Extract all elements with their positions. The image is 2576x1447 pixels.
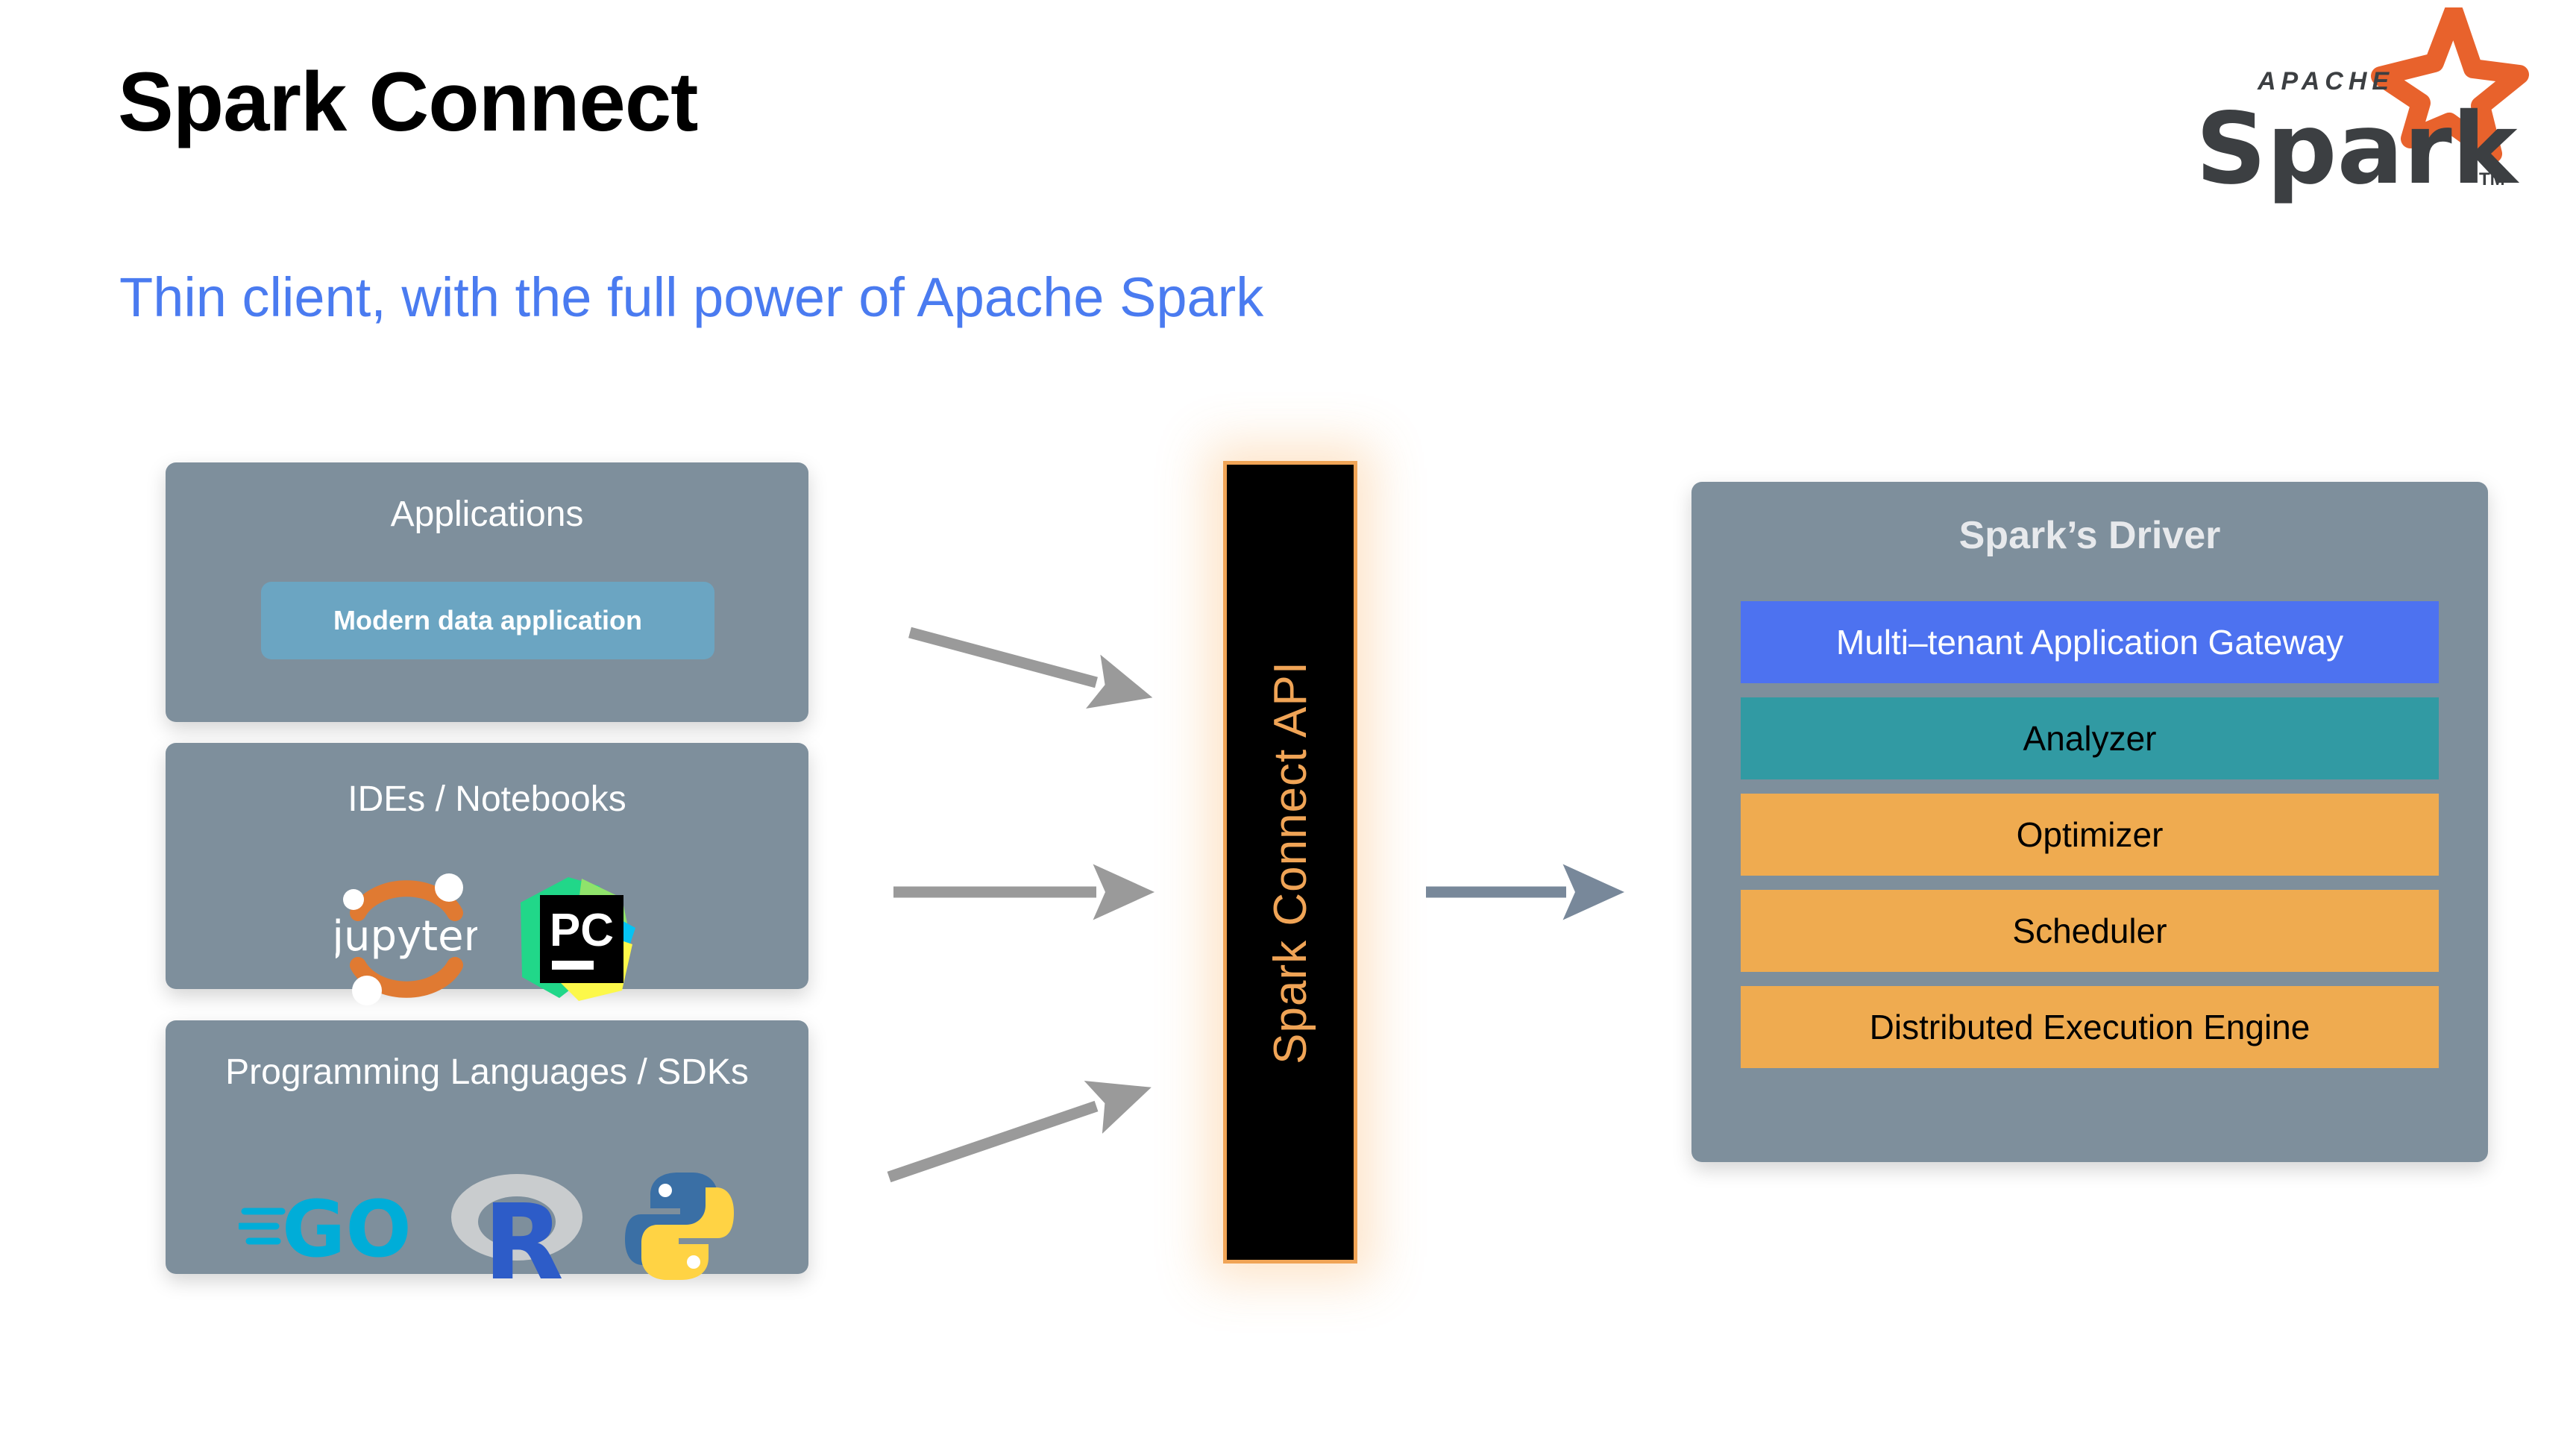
client-box-ides-title: IDEs / Notebooks [166, 779, 808, 821]
ides-logo-row: jupyter PC [166, 870, 808, 1011]
golang-logo: GO [239, 1181, 410, 1275]
r-language-logo: R [446, 1167, 588, 1290]
driver-layer-distributed-execution-engine[interactable]: Distributed Execution Engine [1741, 986, 2439, 1068]
driver-layer-optimizer[interactable]: Optimizer [1741, 794, 2439, 876]
client-box-ides-notebooks[interactable]: IDEs / Notebooks jupyter [166, 743, 808, 989]
client-box-languages-title: Programming Languages / SDKs [166, 1052, 808, 1094]
spark-connect-api-label: Spark Connect API [1264, 661, 1317, 1064]
arrow-applications-to-api [910, 633, 1096, 682]
client-box-programming-languages[interactable]: Programming Languages / SDKs GO [166, 1020, 808, 1274]
client-box-applications[interactable]: Applications Modern data application [166, 462, 808, 722]
driver-layer-gateway[interactable]: Multi–tenant Application Gateway [1741, 601, 2439, 683]
spark-driver-title: Spark’s Driver [1691, 513, 2488, 559]
svg-text:PC: PC [550, 905, 614, 956]
pycharm-logo: PC [510, 873, 638, 1009]
driver-layer-stack: Multi–tenant Application Gateway Analyze… [1741, 601, 2439, 1082]
svg-text:Spark: Spark [2196, 92, 2520, 207]
svg-text:R: R [483, 1182, 564, 1286]
apache-spark-logo: APACHE Spark TM [2157, 7, 2530, 224]
spark-driver-panel[interactable]: Spark’s Driver Multi–tenant Application … [1691, 482, 2488, 1162]
modern-data-application-chip[interactable]: Modern data application [261, 582, 714, 659]
client-box-applications-title: Applications [166, 494, 808, 536]
python-logo [623, 1170, 735, 1287]
driver-layer-scheduler[interactable]: Scheduler [1741, 890, 2439, 972]
page-subtitle: Thin client, with the full power of Apac… [119, 267, 1263, 327]
spark-connect-api-bar[interactable]: Spark Connect API [1223, 461, 1357, 1264]
svg-text:TM: TM [2479, 169, 2505, 189]
driver-layer-analyzer[interactable]: Analyzer [1741, 697, 2439, 779]
slide-canvas: Spark Connect Thin client, with the full… [0, 0, 2576, 1447]
arrow-languages-to-api [889, 1106, 1096, 1177]
svg-text:jupyter: jupyter [336, 912, 477, 961]
svg-text:GO: GO [282, 1184, 410, 1271]
languages-logo-row: GO R [166, 1167, 808, 1290]
page-title: Spark Connect [118, 58, 697, 146]
jupyter-logo: jupyter [336, 870, 477, 1011]
